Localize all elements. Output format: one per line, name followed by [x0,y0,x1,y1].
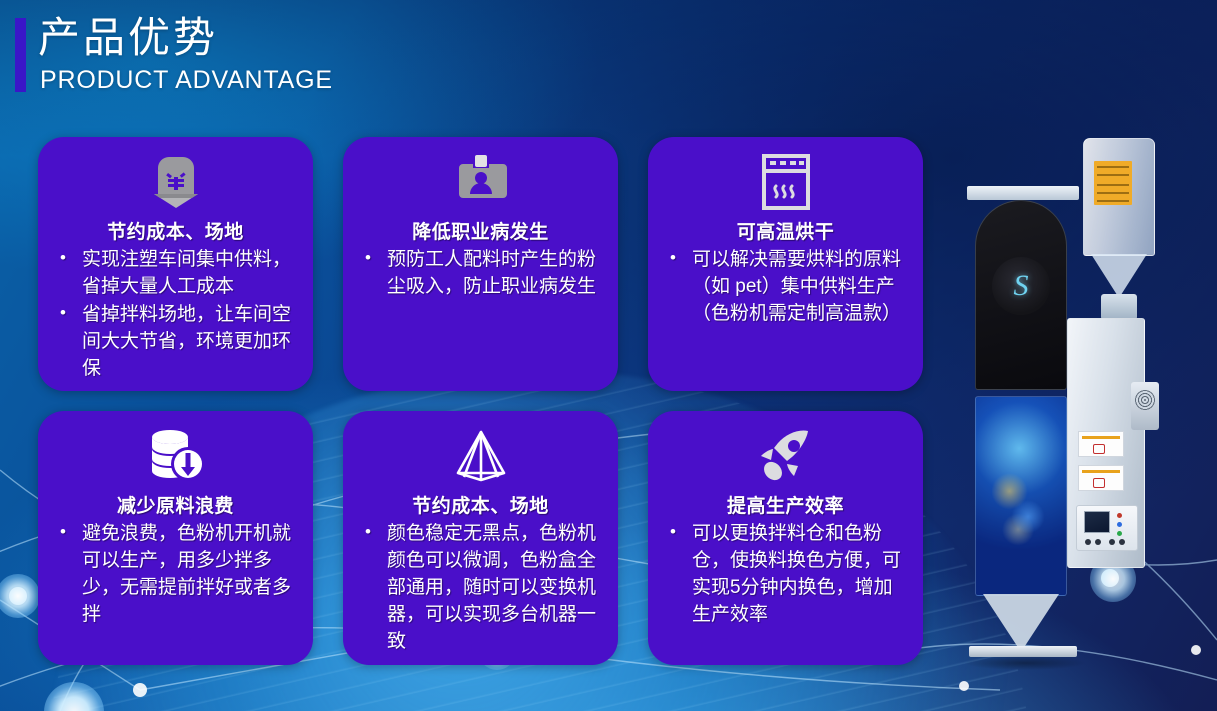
advantage-card-6[interactable]: 提高生产效率 可以更换拌料仓和色粉仓，使换料换色方便，可实现5分钟内换色，增加生… [648,411,923,665]
advantage-card-1-title: 节约成本、场地 [50,217,301,244]
advantage-card-3-bullets: 可以解决需要烘料的原料（如 pet）集中供料生产（色粉机需定制高温款） [660,247,911,328]
page-title-english: PRODUCT ADVANTAGE [40,66,333,95]
advantage-card-1-bullets: 实现注塑车间集中供料，省掉大量人工成本 省掉拌料场地，让车间空间大大节省，环境更… [50,247,301,383]
machine-discharge-funnel [983,594,1059,652]
machine-button-red[interactable] [1117,513,1122,518]
advantage-card-6-title: 提高生产效率 [660,491,911,518]
rocket-icon [660,427,911,485]
advantage-card-6-bullets: 可以更换拌料仓和色粉仓，使换料换色方便，可实现5分钟内换色，增加生产效率 [660,521,911,629]
page-title-chinese: 产品优势 [38,12,218,65]
machine-button-green[interactable] [1117,531,1122,536]
machine-button-blue[interactable] [1117,522,1122,527]
machine-display-screen [1084,511,1110,533]
advantage-card-4-bullets: 避免浪费，色粉机开机就可以生产，用多少拌多少，无需提前拌好或者多拌 [50,521,301,629]
product-machine-photo: S [955,128,1205,688]
database-down-arrow-icon [50,427,301,485]
machine-knob-3[interactable] [1109,539,1115,545]
advantage-card-5-bullets: 颜色稳定无黑点，色粉机颜色可以微调，色粉盒全部通用，随时可以变换机器，可以实现多… [355,521,606,656]
list-item: 可以更换拌料仓和色粉仓，使换料换色方便，可实现5分钟内换色，增加生产效率 [666,521,909,629]
wireframe-pyramid-icon [355,427,606,485]
machine-brand-logo: S [992,257,1050,315]
advantage-card-2[interactable]: 降低职业病发生 预防工人配料时产生的粉尘吸入，防止职业病发生 [343,137,618,391]
id-badge-icon [355,153,606,211]
advantage-card-4[interactable]: 减少原料浪费 避免浪费，色粉机开机就可以生产，用多少拌多少，无需提前拌好或者多拌 [38,411,313,665]
advantage-card-1[interactable]: 节约成本、场地 实现注塑车间集中供料，省掉大量人工成本 省掉拌料场地，让车间空间… [38,137,313,391]
machine-control-panel[interactable] [1076,505,1138,551]
machine-logo-letter: S [1014,269,1029,303]
advantage-card-3-title: 可高温烘干 [660,217,911,244]
machine-shadow [965,656,1085,670]
advantage-card-4-title: 减少原料浪费 [50,491,301,518]
machine-hopper-warning-label [1094,161,1132,205]
machine-warning-sticker-1 [1078,431,1124,457]
machine-neck [1101,294,1137,320]
list-item: 省掉拌料场地，让车间空间大大节省，环境更加环保 [56,302,299,383]
advantage-card-5-title: 节约成本、场地 [355,491,606,518]
slide-canvas: 产品优势 PRODUCT ADVANTAGE [0,0,1217,711]
list-item: 颜色稳定无黑点，色粉机颜色可以微调，色粉盒全部通用，随时可以变换机器，可以实现多… [361,521,604,656]
header-accent-bar [15,18,26,92]
machine-warning-sticker-2 [1078,465,1124,491]
slide-header: 产品优势 PRODUCT ADVANTAGE [0,0,720,120]
advantage-card-2-title: 降低职业病发生 [355,217,606,244]
machine-fan-vent [1131,382,1159,430]
list-item: 避免浪费，色粉机开机就可以生产，用多少拌多少，无需提前拌好或者多拌 [56,521,299,629]
machine-body-column [1067,318,1145,568]
list-item: 可以解决需要烘料的原料（如 pet）集中供料生产（色粉机需定制高温款） [666,247,909,328]
machine-blue-graphic-door [975,396,1067,596]
list-item: 实现注塑车间集中供料，省掉大量人工成本 [56,247,299,301]
machine-knob-2[interactable] [1095,539,1101,545]
machine-hopper [1083,138,1155,256]
machine-top-plate [967,186,1079,200]
dryer-oven-icon [660,153,911,211]
machine-knob-4[interactable] [1119,539,1125,545]
money-bag-down-icon [50,153,301,211]
machine-black-door: S [975,200,1067,390]
list-item: 预防工人配料时产生的粉尘吸入，防止职业病发生 [361,247,604,301]
advantage-card-5[interactable]: 节约成本、场地 颜色稳定无黑点，色粉机颜色可以微调，色粉盒全部通用，随时可以变换… [343,411,618,665]
machine-knob-1[interactable] [1085,539,1091,545]
advantage-card-3[interactable]: 可高温烘干 可以解决需要烘料的原料（如 pet）集中供料生产（色粉机需定制高温款… [648,137,923,391]
advantage-card-2-bullets: 预防工人配料时产生的粉尘吸入，防止职业病发生 [355,247,606,301]
machine-hopper-cone [1091,254,1147,298]
